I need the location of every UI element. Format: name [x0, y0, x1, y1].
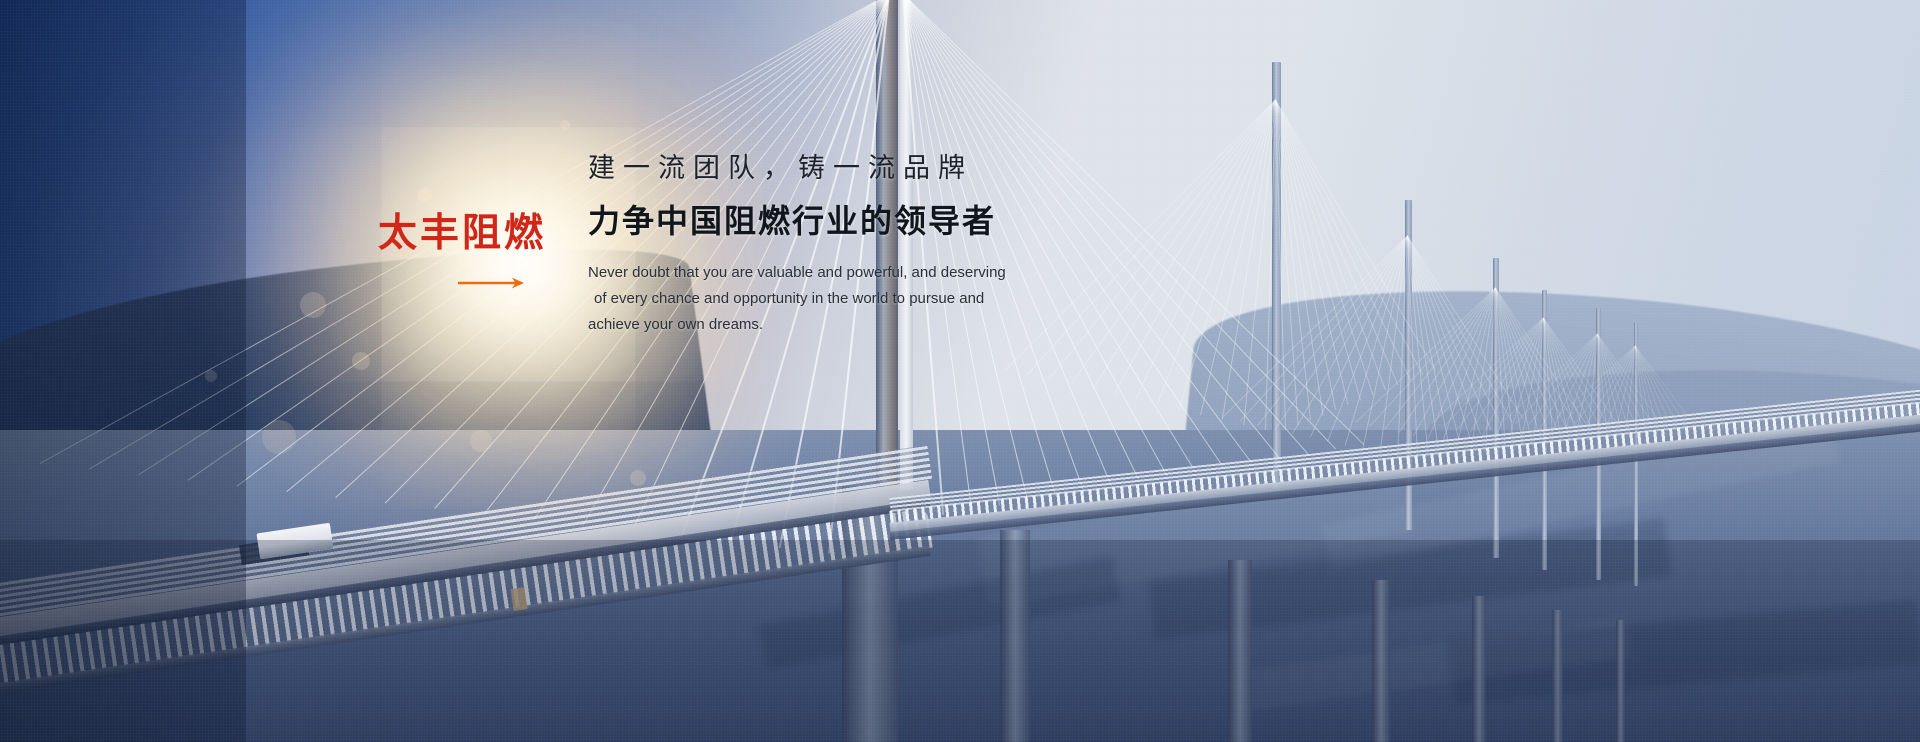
paragraph-line-2: of every chance and opportunity in the w… [588, 286, 1108, 312]
hero-banner: 太丰阻燃 建一流团队，铸一流品牌 力争中国阻燃行业的领导者 Never doub… [0, 0, 1920, 742]
texture-grain-overlay [0, 0, 1920, 742]
headline-primary: 建一流团队，铸一流品牌 [588, 152, 1108, 186]
banner-paragraph: Never doubt that you are valuable and po… [588, 260, 1108, 338]
paragraph-line-3: achieve your own dreams. [588, 312, 1108, 338]
arrow-right-icon [458, 276, 526, 290]
logo-text: 太丰阻燃 [378, 214, 558, 253]
brand-logo[interactable]: 太丰阻燃 [378, 214, 558, 253]
headline-secondary: 力争中国阻燃行业的领导者 [588, 202, 1108, 240]
banner-copy: 建一流团队，铸一流品牌 力争中国阻燃行业的领导者 Never doubt tha… [588, 152, 1108, 338]
paragraph-line-1: Never doubt that you are valuable and po… [588, 260, 1108, 286]
